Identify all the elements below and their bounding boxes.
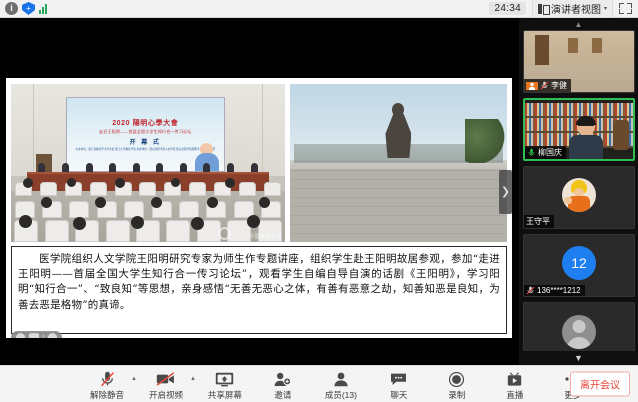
- participant-nametag: 136****1212: [524, 285, 585, 296]
- share-screen-button[interactable]: 共享屏幕: [196, 368, 254, 401]
- toolbar-label: 开启视频: [149, 389, 183, 401]
- led-title-sub: 走近王阳明——首届全国大学生知行合一传习论坛: [99, 129, 191, 135]
- led-title-open: 开 幕 式: [130, 137, 161, 146]
- host-badge-icon: [526, 82, 538, 90]
- unmute-button[interactable]: 解除静音: [78, 368, 136, 401]
- speaker-view-icon: [538, 4, 548, 14]
- top-bar-left-icons: i +: [0, 2, 47, 15]
- next-slide-button[interactable]: ❯: [499, 170, 512, 214]
- generic-person-avatar: [562, 315, 596, 349]
- trees: [465, 119, 505, 163]
- info-icon[interactable]: i: [5, 2, 18, 15]
- meeting-window: i + 24:34 演讲者视图 ▾ 2020 陽明心學: [0, 0, 638, 402]
- photo-conference-hall: 2020 陽明心學大會 走近王阳明——首届全国大学生知行合一传习论坛 开 幕 式…: [11, 84, 285, 242]
- chair: [613, 120, 629, 150]
- participant-name: 136****1212: [537, 286, 581, 295]
- share-screen-icon: [215, 371, 234, 388]
- plaza-ground: [290, 169, 507, 242]
- chevron-down-icon: ▾: [604, 5, 607, 12]
- top-bar: i + 24:34 演讲者视图 ▾: [0, 0, 638, 18]
- shield-icon[interactable]: +: [22, 2, 35, 15]
- top-bar-right-controls: 24:34 演讲者视图 ▾: [489, 0, 638, 18]
- speaker-figure: [568, 117, 604, 161]
- toolbar-label: 录制: [448, 389, 465, 401]
- signal-icon[interactable]: [39, 3, 47, 14]
- chat-button[interactable]: 聊天: [370, 368, 428, 401]
- meeting-toolbar: 解除静音 ▲ 开启视频 ▲: [0, 365, 638, 402]
- toolbar-label: 共享屏幕: [208, 389, 242, 401]
- slide-caption-box: 医学院组织人文学院王阳明研究专家为师生作专题讲座，组织学生赴王阳明故居参观，参加…: [11, 246, 507, 334]
- participant-tile[interactable]: 王守平: [523, 166, 635, 229]
- view-mode-selector[interactable]: 演讲者视图 ▾: [532, 0, 613, 18]
- goku-avatar: [562, 178, 596, 212]
- record-icon: [449, 371, 464, 388]
- video-off-icon: [156, 371, 175, 388]
- filmstrip-scroll-up[interactable]: ▲: [519, 18, 638, 30]
- participant-nametag: 王守平: [524, 215, 554, 228]
- wang-yangming-statue: [385, 103, 411, 157]
- record-button[interactable]: 录制: [428, 368, 486, 401]
- audience-seats: [11, 172, 285, 242]
- invite-person-icon: [274, 371, 291, 388]
- toolbar-items: 解除静音 ▲ 开启视频 ▲: [78, 368, 602, 401]
- chat-bubble-icon: [390, 371, 407, 388]
- participant-name: 王守平: [526, 216, 550, 227]
- slide-photo-row: 2020 陽明心學大會 走近王阳明——首届全国大学生知行合一传习论坛 开 幕 式…: [11, 84, 507, 242]
- stage-led-screen: 2020 陽明心學大會 走近王阳明——首届全国大学生知行合一传习论坛 开 幕 式…: [66, 97, 225, 173]
- filmstrip-scroll-down[interactable]: ▼: [519, 351, 638, 365]
- shared-screen-stage: 2020 陽明心學大會 走近王阳明——首届全国大学生知行合一传习论坛 开 幕 式…: [0, 18, 518, 365]
- toolbar-label: 邀请: [274, 389, 291, 401]
- annotation-toolbar[interactable]: [11, 331, 62, 338]
- toolbar-label: 成员(13): [325, 389, 357, 401]
- emoji-stamp-icon[interactable]: [16, 333, 25, 338]
- participant-tile[interactable]: 柳国庆: [523, 98, 635, 161]
- toolbar-label: 直播: [506, 389, 523, 401]
- participant-name: 李健: [551, 80, 567, 91]
- photo-group-at-statue: [290, 84, 507, 242]
- live-broadcast-icon: [507, 371, 522, 388]
- led-title-main: 2020 陽明心學大會: [112, 118, 178, 128]
- view-mode-label: 演讲者视图: [551, 1, 601, 16]
- video-options-chevron-icon[interactable]: ▲: [190, 376, 196, 382]
- text-box-icon[interactable]: [29, 333, 39, 338]
- participant-tile[interactable]: 李健: [523, 30, 635, 93]
- mic-active-icon: [527, 148, 536, 157]
- live-broadcast-button[interactable]: 直播: [486, 368, 544, 401]
- toolbar-label: 解除静音: [90, 389, 124, 401]
- microphone-muted-icon: [100, 371, 115, 388]
- leave-meeting-button[interactable]: 离开会议: [570, 372, 630, 397]
- participant-tile[interactable]: 12 136****1212: [523, 234, 635, 297]
- participant-nametag: 李健: [524, 79, 571, 92]
- fullscreen-icon[interactable]: [619, 2, 632, 15]
- participant-tiles: 李健: [519, 30, 638, 351]
- participants-icon: [333, 371, 349, 388]
- watermark-ring: [218, 227, 231, 240]
- meeting-timer: 24:34: [489, 2, 526, 15]
- participant-nametag: 柳国庆: [525, 146, 566, 159]
- invite-button[interactable]: 邀请: [254, 368, 312, 401]
- mic-muted-icon: [540, 81, 549, 90]
- participant-filmstrip: ▲: [518, 18, 638, 365]
- cursor-icon[interactable]: [48, 333, 57, 338]
- toolbar-divider: [43, 334, 44, 339]
- shared-slide: 2020 陽明心學大會 走近王阳明——首届全国大学生知行合一传习论坛 开 幕 式…: [6, 78, 512, 338]
- participant-name: 柳国庆: [538, 147, 562, 158]
- start-video-button[interactable]: 开启视频: [137, 368, 195, 401]
- slide-caption-text: 医学院组织人文学院王阳明研究专家为师生作专题讲座，组织学生赴王阳明故居参观，参加…: [18, 252, 500, 313]
- mic-muted-icon: [526, 286, 535, 295]
- photo-watermark: 中国教育在线: [249, 233, 282, 240]
- number-avatar: 12: [562, 246, 596, 280]
- participants-button[interactable]: 成员(13): [312, 368, 370, 401]
- participant-tile[interactable]: 潘庆: [523, 302, 635, 351]
- toolbar-label: 聊天: [390, 389, 407, 401]
